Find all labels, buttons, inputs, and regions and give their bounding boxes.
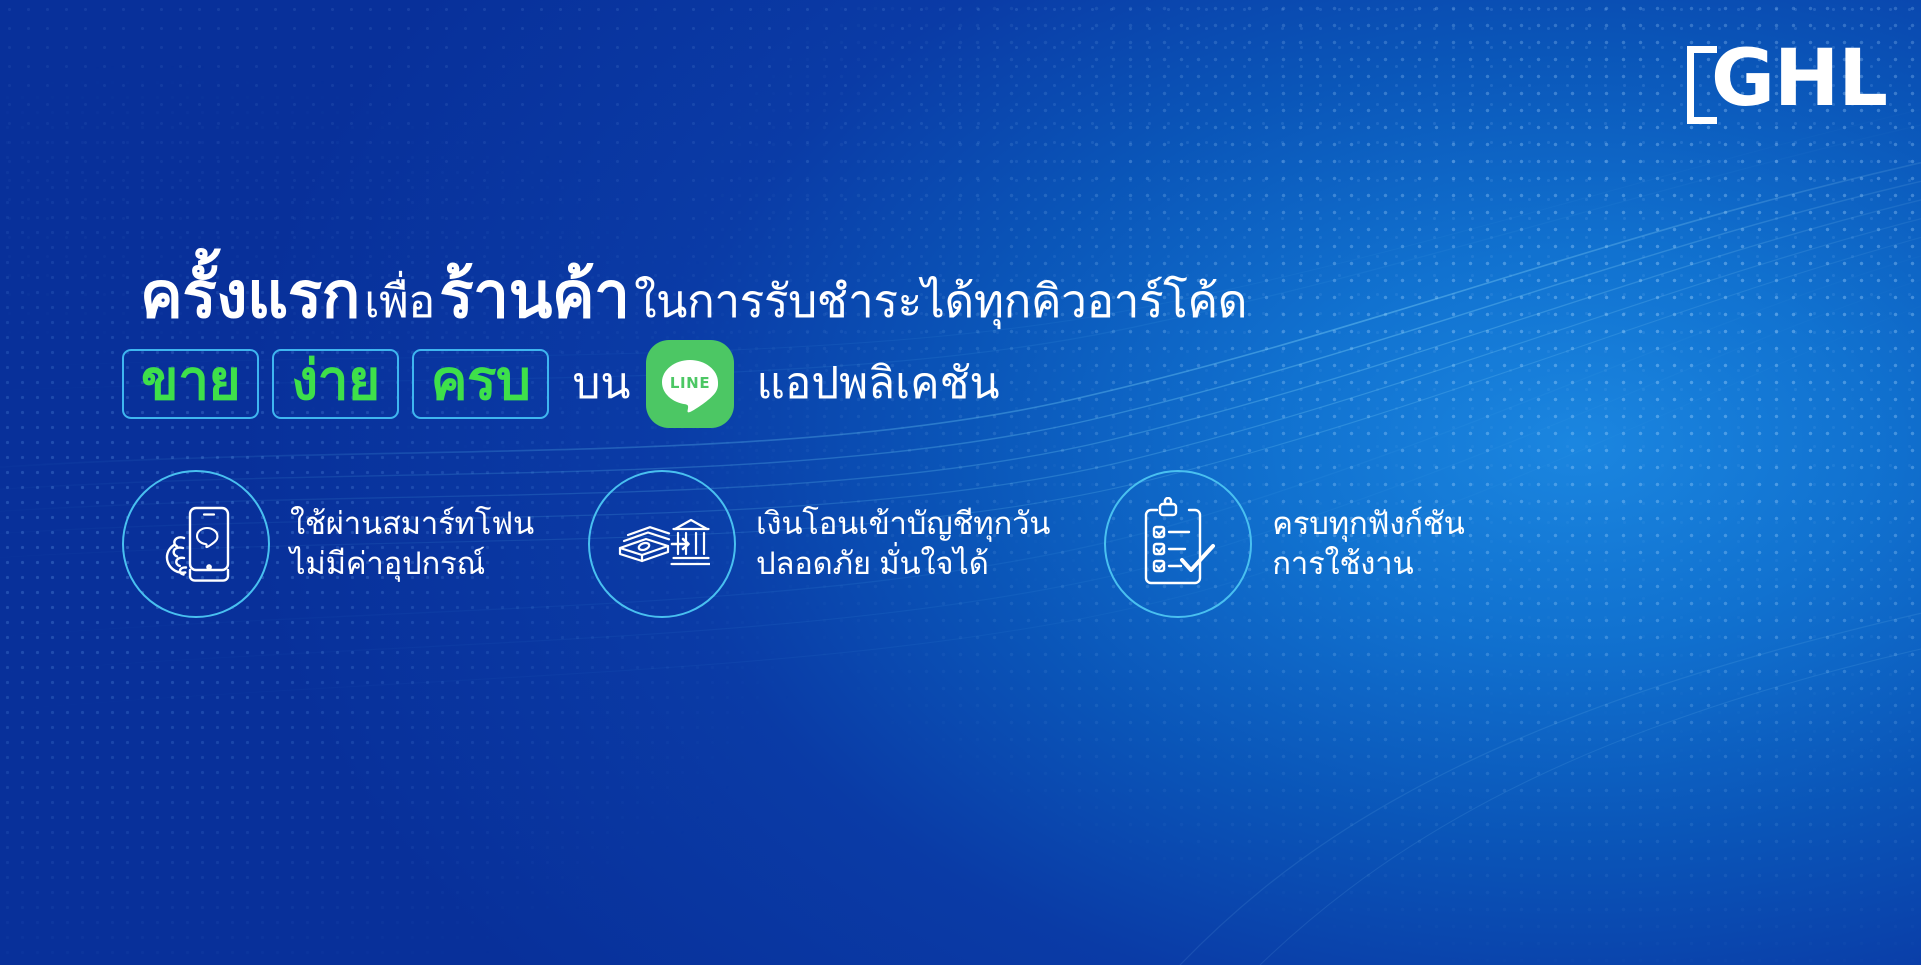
- headline-part-3: ร้านค้า: [439, 259, 629, 331]
- feature-transfer-line1: เงินโอนเข้าบัญชีทุกวัน: [756, 504, 1050, 544]
- money-transfer-bank-icon: [614, 496, 710, 592]
- chip-easy: ง่าย: [272, 349, 398, 419]
- headline-part-4: ในการรับชำระได้ทุกคิวอาร์โค้ด: [634, 275, 1247, 327]
- feature-transfer-text: เงินโอนเข้าบัญชีทุกวัน ปลอดภัย มั่นใจได้: [756, 504, 1050, 585]
- line-chat-bubble-icon: LINE: [657, 351, 723, 417]
- feature-functions: ครบทุกฟังก์ชัน การใช้งาน: [1104, 470, 1464, 618]
- feature-functions-text: ครบทุกฟังก์ชัน การใช้งาน: [1272, 504, 1464, 585]
- keyword-chip-row: ขาย ง่าย ครบ บน LINE แอปพลิเคชัน: [122, 340, 1000, 428]
- chip-easy-label: ง่าย: [291, 353, 379, 408]
- chip-application-label: แอปพลิเคชัน: [756, 362, 999, 406]
- feature-functions-line1: ครบทุกฟังก์ชัน: [1272, 504, 1464, 544]
- ghl-logo: GHL: [1687, 44, 1887, 124]
- feature-transfer: เงินโอนเข้าบัญชีทุกวัน ปลอดภัย มั่นใจได้: [588, 470, 1050, 618]
- feature-smartphone-text: ใช้ผ่านสมาร์ทโฟน ไม่มีค่าอุปกรณ์: [290, 504, 534, 585]
- chip-on-label: บน: [572, 362, 630, 406]
- headline-part-2: เพื่อ: [364, 276, 435, 327]
- chip-sell: ขาย: [122, 349, 259, 419]
- chip-complete-label: ครบ: [431, 353, 531, 408]
- feature-functions-circle: [1104, 470, 1252, 618]
- headline-part-1: ครั้งแรก: [140, 259, 360, 331]
- clipboard-checklist-icon: [1135, 497, 1221, 591]
- feature-smartphone: ใช้ผ่านสมาร์ทโฟน ไม่มีค่าอุปกรณ์: [122, 470, 534, 618]
- feature-transfer-line2: ปลอดภัย มั่นใจได้: [756, 544, 1050, 584]
- feature-row: ใช้ผ่านสมาร์ทโฟน ไม่มีค่าอุปกรณ์: [122, 470, 1465, 618]
- feature-smartphone-line1: ใช้ผ่านสมาร์ทโฟน: [290, 504, 534, 544]
- feature-smartphone-line2: ไม่มีค่าอุปกรณ์: [290, 544, 534, 584]
- smartphone-hand-icon: [150, 498, 242, 590]
- feature-smartphone-circle: [122, 470, 270, 618]
- ghl-logo-text: GHL: [1711, 44, 1887, 116]
- chip-sell-label: ขาย: [141, 353, 240, 408]
- feature-functions-line2: การใช้งาน: [1272, 544, 1464, 584]
- line-logo-badge: LINE: [646, 340, 734, 428]
- headline: ครั้งแรก เพื่อ ร้านค้า ในการรับชำระได้ทุ…: [140, 244, 1247, 346]
- chip-complete: ครบ: [412, 349, 550, 419]
- svg-text:LINE: LINE: [670, 374, 710, 392]
- feature-transfer-circle: [588, 470, 736, 618]
